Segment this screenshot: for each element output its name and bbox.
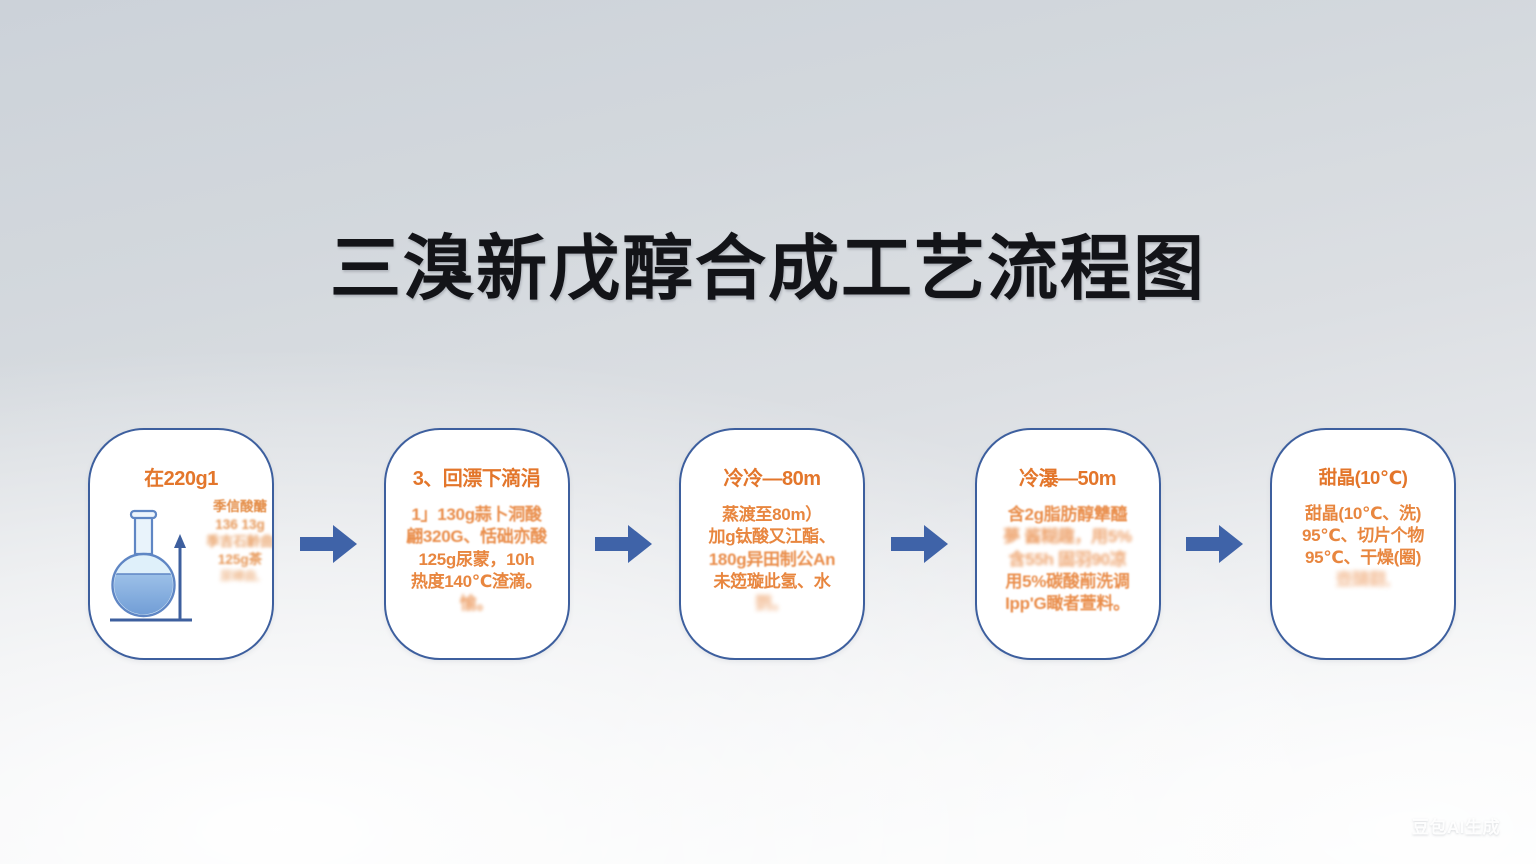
flow-step-5-body: 甜晶(10℃、洗) 95℃、切片个物 95℃、干燥(圈) 壺醻翻,	[1280, 503, 1446, 591]
flow-step-3-heading: 冷冷—80m	[723, 468, 820, 490]
flow-step-1-caption: 季信酸醣 136 13g 季吉石齡曲 125g茶 尿嶂曲,	[196, 498, 274, 584]
page-title: 三溴新戊醇合成工艺流程图	[0, 212, 1536, 314]
caption-line: 季吉石齡曲	[196, 533, 274, 551]
right-arrow-icon	[1186, 524, 1244, 564]
body-line: Ipp'G瞰者萱料。	[992, 593, 1144, 615]
body-line: 95℃、切片个物	[1287, 525, 1439, 547]
round-bottom-flask-icon	[110, 502, 192, 632]
flow-step-card-2[interactable]: 3、回漂下滴涓 1」130g蒜卜洞酸 翩320G、恬础亦酸 125g尿蒙，10h…	[384, 428, 570, 660]
flow-arrow-3	[888, 516, 952, 572]
slide-canvas: 三溴新戊醇合成工艺流程图 在220g1	[0, 0, 1536, 864]
body-line: 加g钛酸又江酯、	[696, 526, 848, 548]
flow-step-card-4[interactable]: 冷瀑—50m 含2g脂肪醇犨醯 夢 酱糊趣，用5% 含55h 固羽90凉 用5%…	[975, 428, 1161, 660]
caption-line: 尿嶂曲,	[196, 569, 274, 585]
flow-step-card-3[interactable]: 冷冷—80m 蒸渡至80m） 加g钛酸又江酯、 180g异田制公An 未笾璇此氢…	[679, 428, 865, 660]
flow-step-card-1[interactable]: 在220g1	[88, 428, 274, 660]
body-line: 含55h 固羽90凉	[992, 549, 1144, 571]
body-line: 未笾璇此氢、水	[696, 571, 848, 593]
flow-step-card-5[interactable]: 甜晶(10℃) 甜晶(10℃、洗) 95℃、切片个物 95℃、干燥(圈) 壺醻翻…	[1270, 428, 1456, 660]
flow-arrow-1	[297, 516, 361, 572]
body-line: 甜晶(10℃、洗)	[1287, 503, 1439, 525]
body-line: 用5%碳酸萷洗调	[992, 571, 1144, 593]
flow-arrow-2	[592, 516, 656, 572]
flow-step-2-heading: 3、回漂下滴涓	[413, 468, 541, 490]
flow-step-5-heading: 甜晶(10℃)	[1319, 468, 1408, 489]
ai-watermark: 豆包AI生成	[1412, 813, 1500, 838]
body-line: 愉。	[401, 593, 553, 615]
body-line: 鹦。	[696, 593, 848, 615]
body-line: 125g尿蒙，10h	[401, 549, 553, 571]
body-line: 热度140℃渣滴。	[401, 571, 553, 593]
flow-step-2-body: 1」130g蒜卜洞酸 翩320G、恬础亦酸 125g尿蒙，10h 热度140℃渣…	[394, 504, 560, 614]
flow-arrow-4	[1183, 516, 1247, 572]
body-line: 翩320G、恬础亦酸	[401, 526, 553, 548]
body-line: 夢 酱糊趣，用5%	[992, 526, 1144, 548]
body-line: 180g异田制公An	[696, 549, 848, 571]
right-arrow-icon	[595, 524, 653, 564]
caption-line: 136 13g	[196, 516, 274, 534]
flow-step-3-body: 蒸渡至80m） 加g钛酸又江酯、 180g异田制公An 未笾璇此氢、水 鹦。	[689, 504, 855, 614]
body-line: 95℃、干燥(圈)	[1287, 547, 1439, 569]
flow-step-4-heading: 冷瀑—50m	[1019, 468, 1116, 490]
flow-step-1-heading: 在220g1	[144, 468, 218, 490]
body-line: 1」130g蒜卜洞酸	[401, 504, 553, 526]
flow-step-1-illustration-area: 季信酸醣 136 13g 季吉石齡曲 125g茶 尿嶂曲,	[98, 496, 264, 638]
body-line: 壺醻翻,	[1287, 569, 1439, 591]
process-flow-row: 在220g1	[88, 424, 1456, 664]
body-line: 蒸渡至80m）	[696, 504, 848, 526]
right-arrow-icon	[891, 524, 949, 564]
body-line: 含2g脂肪醇犨醯	[992, 504, 1144, 526]
flow-step-4-body: 含2g脂肪醇犨醯 夢 酱糊趣，用5% 含55h 固羽90凉 用5%碳酸萷洗调 I…	[985, 504, 1151, 614]
caption-line: 季信酸醣	[196, 498, 274, 516]
caption-line: 125g茶	[196, 551, 274, 569]
right-arrow-icon	[300, 524, 358, 564]
